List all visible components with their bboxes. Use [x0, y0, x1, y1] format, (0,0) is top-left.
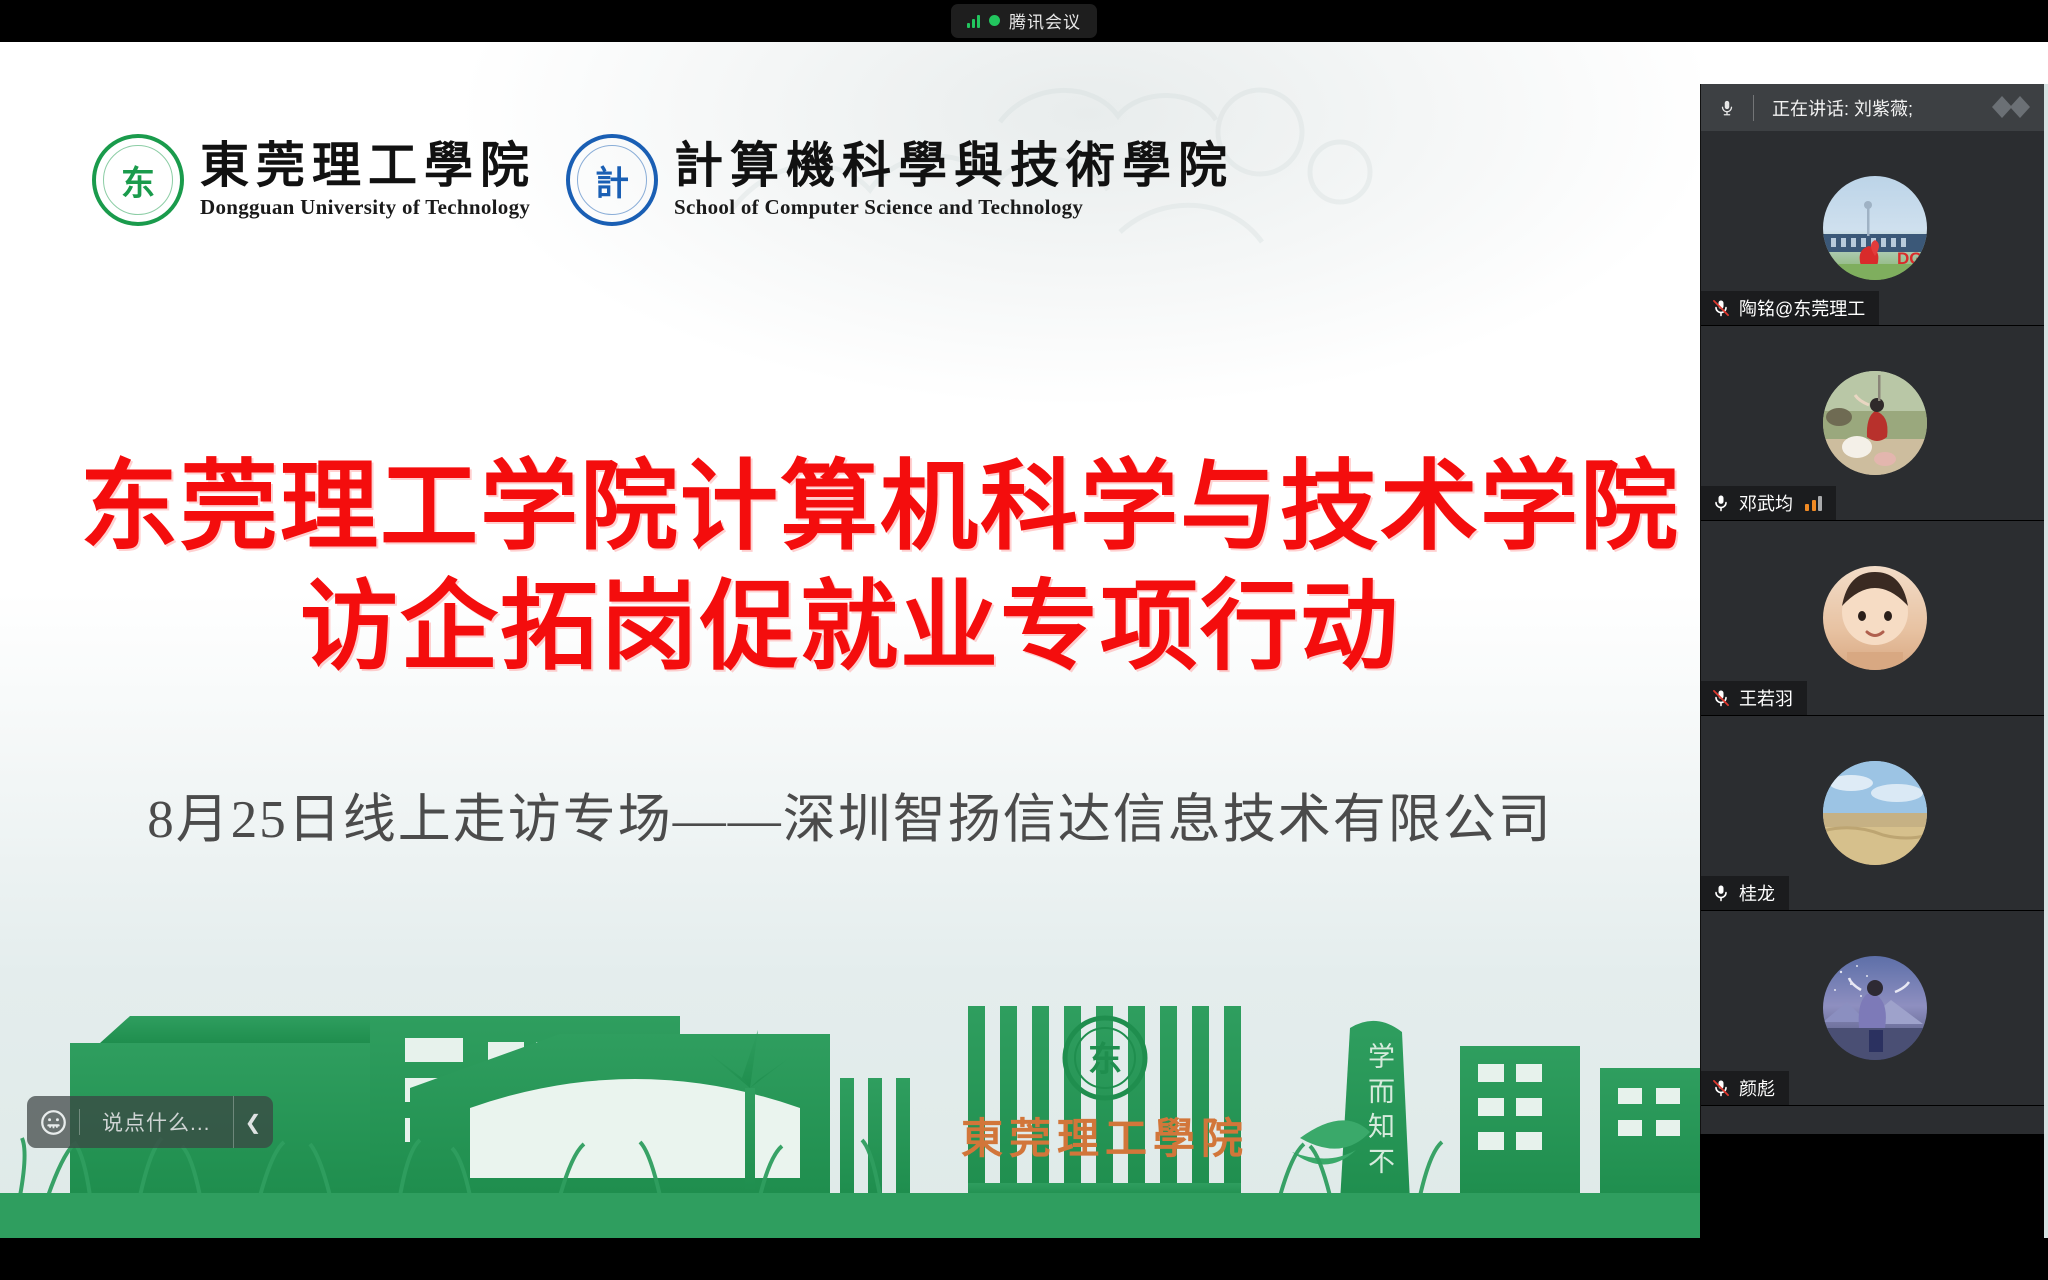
mic-muted-icon	[1711, 688, 1731, 708]
window-titlebar: 腾讯会议	[0, 0, 2048, 42]
participant-name: 邓武均	[1739, 490, 1793, 516]
slide-title: 东莞理工学院计算机科学与技术学院 访企拓岗促就业专项行动	[0, 447, 1700, 686]
dgut-seal-icon: 东	[92, 134, 184, 226]
active-speaker-bar: 正在讲话: 刘紫薇;	[1701, 84, 2048, 131]
active-speaker-label: 正在讲话: 刘紫薇;	[1754, 95, 1913, 121]
slide-subtitle: 8月25日线上走访专场——深圳智扬信达信息技术有限公司	[0, 777, 1700, 853]
svg-text:而: 而	[1368, 1077, 1395, 1107]
participant-tile[interactable]: DG 陶铭@东莞理工	[1701, 131, 2048, 326]
participant-tile[interactable]: 邓武均	[1701, 326, 2048, 521]
participant-name: 桂龙	[1739, 880, 1775, 906]
slide-title-line-2: 访企拓岗促就业专项行动	[0, 567, 1700, 687]
microphone-icon	[1711, 493, 1731, 513]
scst-seal-glyph: 計	[588, 156, 636, 204]
avatar	[1823, 956, 1927, 1060]
green-status-dot	[989, 15, 1000, 26]
svg-text:学: 学	[1368, 1042, 1395, 1072]
scst-name-cn: 計算機科學與技術學院	[674, 140, 1234, 191]
avatar	[1823, 761, 1927, 865]
chevron-left-icon[interactable]: ❮	[233, 1096, 273, 1148]
dgut-seal-glyph: 东	[114, 156, 162, 204]
shared-slide[interactable]: 东 東莞理工學院 Dongguan University of Technolo…	[0, 42, 1700, 1238]
gate-label-text: 東莞理工學院	[961, 1116, 1249, 1163]
rail-bottom-filler	[1700, 1134, 2048, 1238]
signal-bars-icon	[967, 14, 980, 28]
participant-tile[interactable]: 王若羽	[1701, 521, 2048, 716]
slide-logo-row: 东 東莞理工學院 Dongguan University of Technolo…	[92, 134, 1234, 226]
smiley-face-icon[interactable]	[27, 1096, 79, 1148]
dgut-name-cn: 東莞理工學院	[200, 140, 536, 191]
campus-illustration: 东 東莞理工學院 学而 知不	[0, 938, 1700, 1238]
participant-name: 王若羽	[1739, 685, 1793, 711]
chat-input-bar[interactable]: 说点什么... ❮	[27, 1096, 273, 1148]
participant-rail: 正在讲话: 刘紫薇;	[1700, 84, 2048, 1134]
logo-dgut: 东 東莞理工學院 Dongguan University of Technolo…	[92, 134, 536, 226]
svg-text:不: 不	[1368, 1147, 1395, 1177]
meeting-stage: 东 東莞理工學院 Dongguan University of Technolo…	[0, 42, 2048, 1238]
participant-nameplate: 邓武均	[1701, 486, 1836, 520]
participant-tile[interactable]: 颜彪	[1701, 911, 2048, 1106]
participant-name: 颜彪	[1739, 1075, 1775, 1101]
participant-nameplate: 王若羽	[1701, 681, 1807, 715]
scst-seal-icon: 計	[566, 134, 658, 226]
participant-nameplate: 陶铭@东莞理工	[1701, 291, 1879, 325]
svg-text:知: 知	[1368, 1112, 1395, 1142]
microphone-icon	[1701, 97, 1753, 119]
chat-input[interactable]: 说点什么...	[80, 1107, 233, 1137]
window-bottom-bar	[0, 1238, 2048, 1280]
scst-name-en: School of Computer Science and Technolog…	[674, 195, 1234, 220]
avatar: DG	[1823, 176, 1927, 280]
audio-level-icon	[1805, 496, 1822, 511]
svg-text:东: 东	[1088, 1040, 1122, 1079]
participant-name: 陶铭@东莞理工	[1739, 295, 1865, 321]
tencent-meeting-logo	[1982, 90, 2038, 124]
slide-title-line-1: 东莞理工学院计算机科学与技术学院	[60, 447, 1700, 567]
app-title: 腾讯会议	[1009, 8, 1081, 33]
microphone-icon	[1711, 883, 1731, 903]
mic-muted-icon	[1711, 298, 1731, 318]
dgut-name-en: Dongguan University of Technology	[200, 195, 536, 220]
avatar	[1823, 371, 1927, 475]
mic-muted-icon	[1711, 1078, 1731, 1098]
participant-nameplate: 桂龙	[1701, 876, 1789, 910]
participant-nameplate: 颜彪	[1701, 1071, 1789, 1105]
logo-scst: 計 計算機科學與技術學院 School of Computer Science …	[566, 134, 1234, 226]
right-edge-strip	[2044, 84, 2048, 1238]
avatar	[1823, 566, 1927, 670]
participant-tile[interactable]: 桂龙	[1701, 716, 2048, 911]
meeting-status-pill[interactable]: 腾讯会议	[951, 4, 1097, 38]
